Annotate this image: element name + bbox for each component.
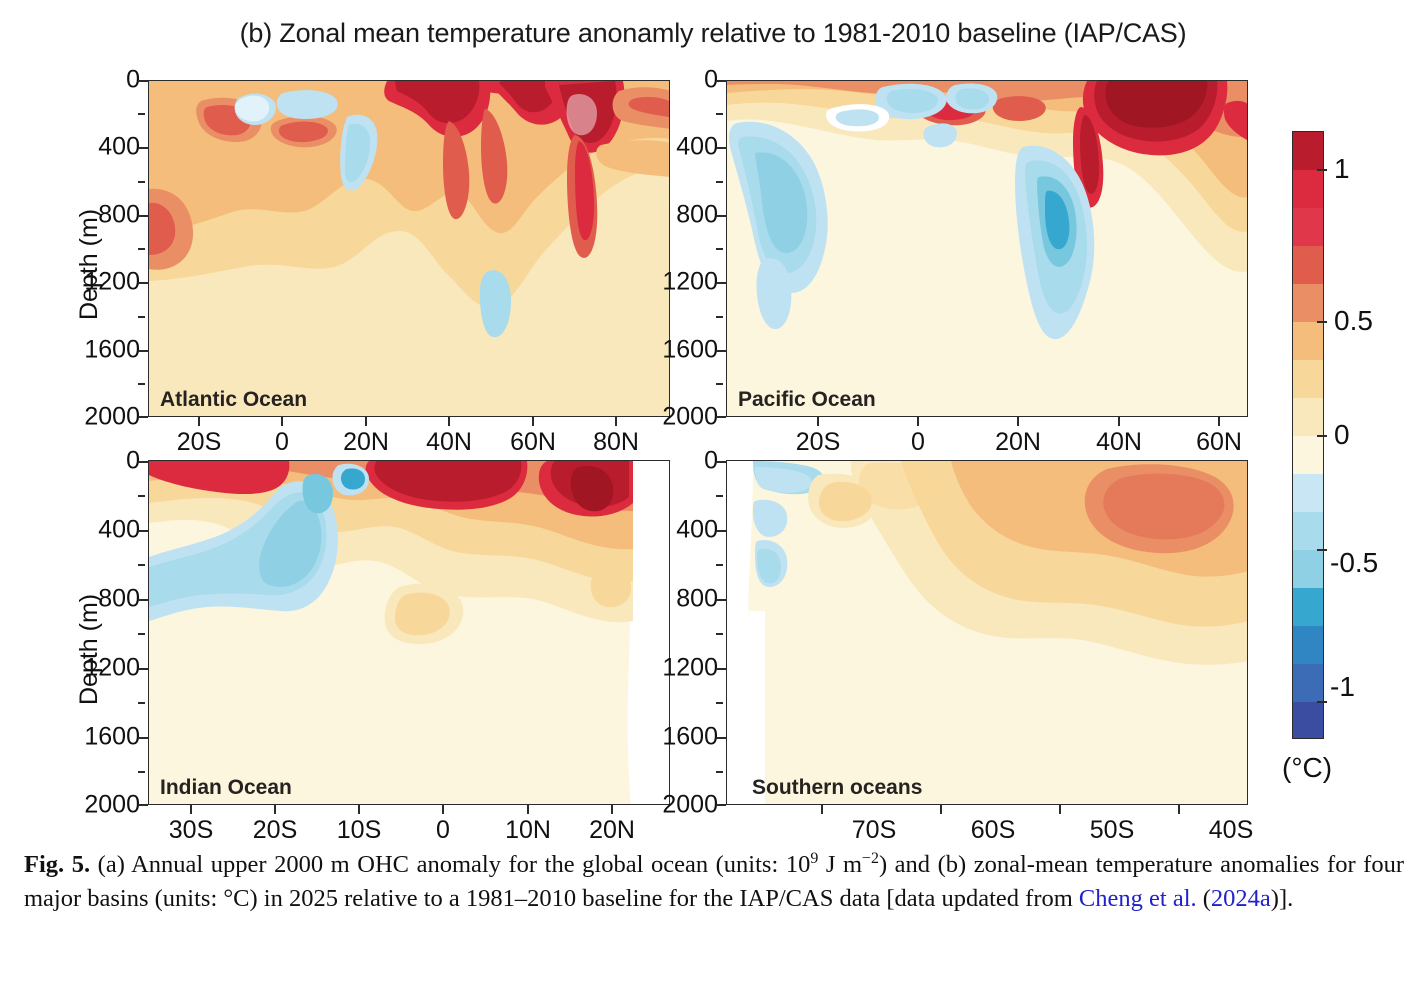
x-tick-mark — [281, 417, 283, 426]
y-tick-ind-800: 800 — [78, 585, 140, 614]
y-tick-mark — [716, 147, 726, 149]
x-tick-atl-0: 0 — [275, 428, 289, 457]
x-tick-mark — [274, 805, 276, 814]
y-tick-ind-2000: 2000 — [78, 791, 140, 820]
panel-label-pacific: Pacific Ocean — [738, 388, 876, 412]
y-tick-mark — [716, 113, 723, 115]
x-tick-atl-20N: 20N — [343, 428, 389, 457]
y-tick-ind-1200: 1200 — [78, 654, 140, 683]
x-tick-mark — [1178, 805, 1180, 814]
x-tick-atl-80N: 80N — [593, 428, 639, 457]
x-tick-pac-20S: 20S — [796, 428, 840, 457]
x-tick-mark — [821, 805, 823, 814]
y-tick-mark — [138, 282, 148, 284]
y-tick-mark — [716, 771, 723, 773]
y-tick-pac-0: 0 — [656, 66, 718, 95]
contour-field-atlantic — [149, 81, 670, 417]
y-tick-mark — [716, 80, 726, 82]
x-tick-mark — [448, 417, 450, 426]
y-tick-mark — [138, 702, 145, 704]
y-tick-sou-2000: 2000 — [656, 791, 718, 820]
colorbar-segment — [1293, 132, 1323, 170]
x-tick-mark — [1218, 417, 1220, 426]
y-tick-pac-400: 400 — [656, 133, 718, 162]
y-tick-mark — [716, 461, 726, 463]
caption-link-year[interactable]: 2024a — [1211, 885, 1271, 912]
x-tick-atl-40N: 40N — [426, 428, 472, 457]
y-tick-top-2000: 2000 — [78, 403, 140, 432]
y-tick-mark — [716, 702, 723, 704]
x-tick-sou-60S: 60S — [971, 816, 1015, 845]
x-tick-mark — [611, 805, 613, 814]
panel-label-southern: Southern oceans — [752, 776, 922, 800]
y-tick-pac-1600: 1600 — [656, 336, 718, 365]
x-tick-sou-70S: 70S — [852, 816, 896, 845]
colorbar-label-1: 1 — [1334, 153, 1350, 185]
colorbar-segment — [1293, 246, 1323, 284]
plot-area-indian — [148, 460, 670, 805]
x-tick-ind-30S: 30S — [169, 816, 213, 845]
y-tick-mark — [138, 248, 145, 250]
x-tick-ind-20S: 20S — [253, 816, 297, 845]
y-tick-ind-400: 400 — [78, 516, 140, 545]
colorbar-label-0: 0 — [1334, 419, 1350, 451]
x-tick-pac-60N: 60N — [1196, 428, 1242, 457]
x-tick-pac-20N: 20N — [995, 428, 1041, 457]
colorbar-segment — [1293, 474, 1323, 512]
y-tick-pac-800: 800 — [656, 201, 718, 230]
x-tick-mark — [365, 417, 367, 426]
y-tick-mark — [138, 737, 148, 739]
x-tick-sou-40S: 40S — [1209, 816, 1253, 845]
x-tick-mark — [817, 417, 819, 426]
y-tick-mark — [716, 215, 726, 217]
y-tick-pac-2000: 2000 — [656, 403, 718, 432]
y-tick-mark — [716, 416, 726, 418]
y-tick-mark — [138, 113, 145, 115]
y-tick-mark — [138, 668, 148, 670]
x-tick-ind-10N: 10N — [505, 816, 551, 845]
y-tick-mark — [716, 633, 723, 635]
y-tick-mark — [138, 147, 148, 149]
y-tick-mark — [138, 316, 145, 318]
y-tick-mark — [716, 564, 723, 566]
panel-label-indian: Indian Ocean — [160, 776, 292, 800]
caption-part-a2: J m — [818, 851, 862, 878]
y-tick-mark — [716, 599, 726, 601]
x-tick-ind-10S: 10S — [337, 816, 381, 845]
caption-figure-number: Fig. 5. — [24, 851, 90, 878]
y-tick-ind-0: 0 — [78, 447, 140, 476]
y-tick-sou-800: 800 — [656, 585, 718, 614]
panel-label-atlantic: Atlantic Ocean — [160, 388, 307, 412]
y-tick-mark — [716, 181, 723, 183]
y-tick-ind-1600: 1600 — [78, 723, 140, 752]
y-tick-top-0: 0 — [78, 66, 140, 95]
colorbar-segment — [1293, 512, 1323, 550]
colorbar-label-neg0.5: -0.5 — [1330, 547, 1378, 579]
y-tick-mark — [716, 737, 726, 739]
figure-panel-b: (b) Zonal mean temperature anonamly rela… — [0, 0, 1426, 983]
x-tick-mark — [1059, 805, 1061, 814]
x-tick-mark — [1017, 417, 1019, 426]
x-tick-mark — [527, 805, 529, 814]
figure-title: (b) Zonal mean temperature anonamly rela… — [0, 18, 1426, 49]
y-tick-mark — [716, 248, 723, 250]
y-tick-mark — [138, 215, 148, 217]
colorbar-tick-mark — [1317, 701, 1327, 703]
y-tick-top-1600: 1600 — [78, 336, 140, 365]
caption-mid: ( — [1197, 885, 1211, 912]
colorbar-segment — [1293, 588, 1323, 626]
colorbar-tick-mark — [1317, 321, 1327, 323]
x-tick-mark — [615, 417, 617, 426]
colorbar-tick-mark — [1317, 549, 1327, 551]
contour-field-southern — [727, 461, 1248, 805]
y-tick-pac-1200: 1200 — [656, 268, 718, 297]
colorbar-segment — [1293, 702, 1323, 739]
plot-area-atlantic — [148, 80, 670, 417]
colorbar-segment — [1293, 626, 1323, 664]
x-tick-mark — [190, 805, 192, 814]
caption-link-author[interactable]: Cheng et al. — [1079, 885, 1197, 912]
y-tick-mark — [716, 804, 726, 806]
colorbar-segment — [1293, 322, 1323, 360]
y-tick-mark — [138, 599, 148, 601]
colorbar-segment — [1293, 436, 1323, 474]
x-tick-ind-20N: 20N — [589, 816, 635, 845]
y-tick-mark — [138, 633, 145, 635]
y-tick-mark — [138, 564, 145, 566]
y-tick-mark — [138, 383, 145, 385]
colorbar-tick-mark — [1317, 169, 1327, 171]
x-tick-ind-0: 0 — [436, 816, 450, 845]
figure-caption: Fig. 5. (a) Annual upper 2000 m OHC anom… — [24, 848, 1404, 917]
y-tick-sou-1600: 1600 — [656, 723, 718, 752]
colorbar-segment — [1293, 284, 1323, 322]
y-tick-mark — [138, 804, 148, 806]
colorbar-segment — [1293, 664, 1323, 702]
y-tick-mark — [138, 495, 145, 497]
y-tick-sou-0: 0 — [656, 447, 718, 476]
y-tick-mark — [138, 80, 148, 82]
x-tick-atl-20S: 20S — [177, 428, 221, 457]
x-tick-mark — [358, 805, 360, 814]
y-tick-mark — [716, 383, 723, 385]
colorbar-segment — [1293, 398, 1323, 436]
colorbar-segment — [1293, 208, 1323, 246]
y-tick-top-1200: 1200 — [78, 268, 140, 297]
y-tick-top-400: 400 — [78, 133, 140, 162]
y-tick-mark — [716, 316, 723, 318]
colorbar-segment — [1293, 170, 1323, 208]
x-tick-mark — [198, 417, 200, 426]
caption-tail: )]. — [1271, 885, 1293, 912]
y-tick-top-800: 800 — [78, 201, 140, 230]
x-tick-mark — [532, 417, 534, 426]
y-tick-mark — [716, 530, 726, 532]
y-tick-mark — [138, 181, 145, 183]
y-tick-mark — [138, 350, 148, 352]
x-tick-mark — [940, 805, 942, 814]
y-tick-mark — [716, 350, 726, 352]
colorbar-units-label: (°C) — [1282, 752, 1332, 784]
colorbar-segment — [1293, 550, 1323, 588]
plot-area-southern — [726, 460, 1248, 805]
y-tick-mark — [716, 495, 723, 497]
colorbar-label-neg1: -1 — [1330, 671, 1355, 703]
contour-field-pacific — [727, 81, 1248, 417]
y-tick-sou-400: 400 — [656, 516, 718, 545]
y-tick-sou-1200: 1200 — [656, 654, 718, 683]
colorbar-segment — [1293, 360, 1323, 398]
x-tick-pac-0: 0 — [911, 428, 925, 457]
x-tick-mark — [1118, 417, 1120, 426]
caption-part-a: (a) Annual upper 2000 m OHC anomaly for … — [90, 851, 810, 878]
y-tick-mark — [138, 530, 148, 532]
contour-field-indian — [149, 461, 670, 805]
plot-area-pacific — [726, 80, 1248, 417]
y-tick-mark — [138, 461, 148, 463]
y-tick-mark — [138, 771, 145, 773]
x-tick-mark — [917, 417, 919, 426]
x-tick-sou-50S: 50S — [1090, 816, 1134, 845]
x-tick-pac-40N: 40N — [1096, 428, 1142, 457]
y-tick-mark — [716, 668, 726, 670]
colorbar-label-0.5: 0.5 — [1334, 305, 1373, 337]
y-tick-mark — [138, 416, 148, 418]
y-tick-mark — [716, 282, 726, 284]
x-tick-mark — [442, 805, 444, 814]
x-tick-atl-60N: 60N — [510, 428, 556, 457]
colorbar-tick-mark — [1317, 435, 1327, 437]
caption-exponent-neg2: −2 — [862, 850, 879, 867]
